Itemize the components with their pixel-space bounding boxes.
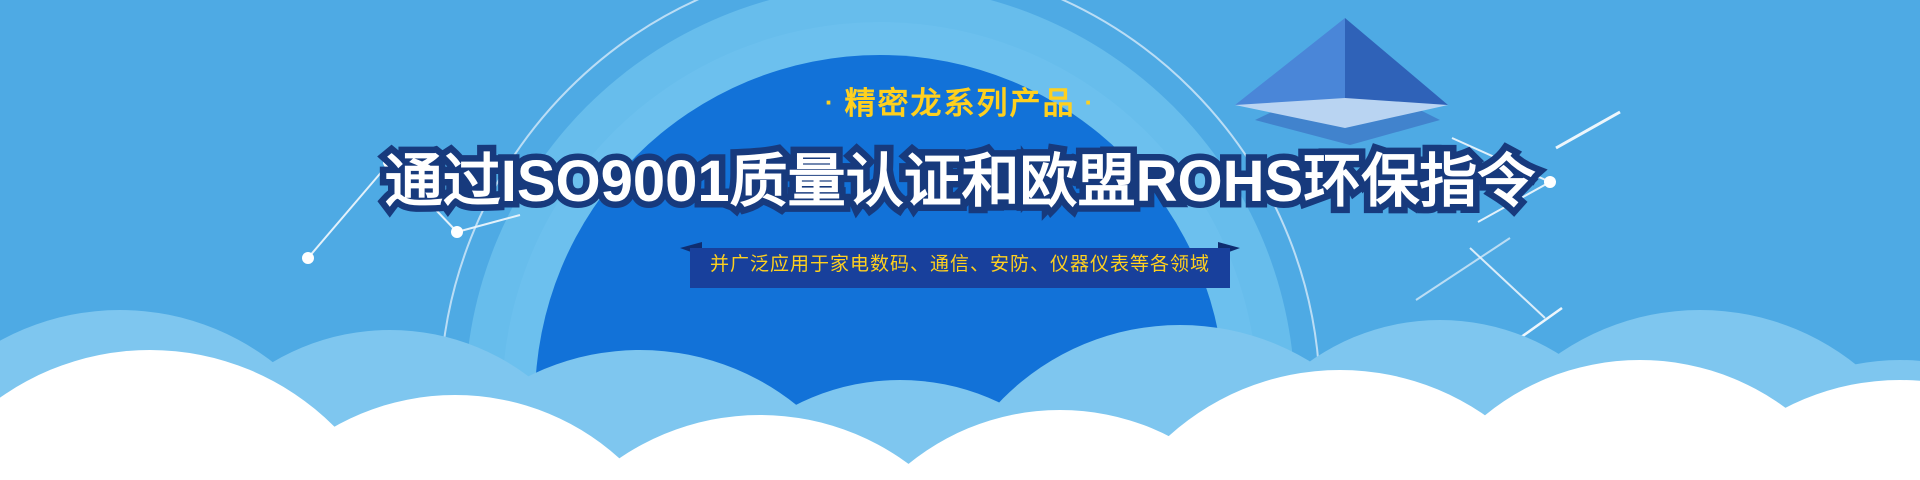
constellation-node [302, 252, 314, 264]
constellation-node [451, 226, 463, 238]
constellation-node [1544, 176, 1556, 188]
hero-banner: ·精密龙系列产品· 通过ISO9001质量认证和欧盟ROHS环保指令 通过ISO… [0, 0, 1920, 480]
constellation-node [383, 155, 397, 169]
background-graphics [0, 0, 1920, 480]
